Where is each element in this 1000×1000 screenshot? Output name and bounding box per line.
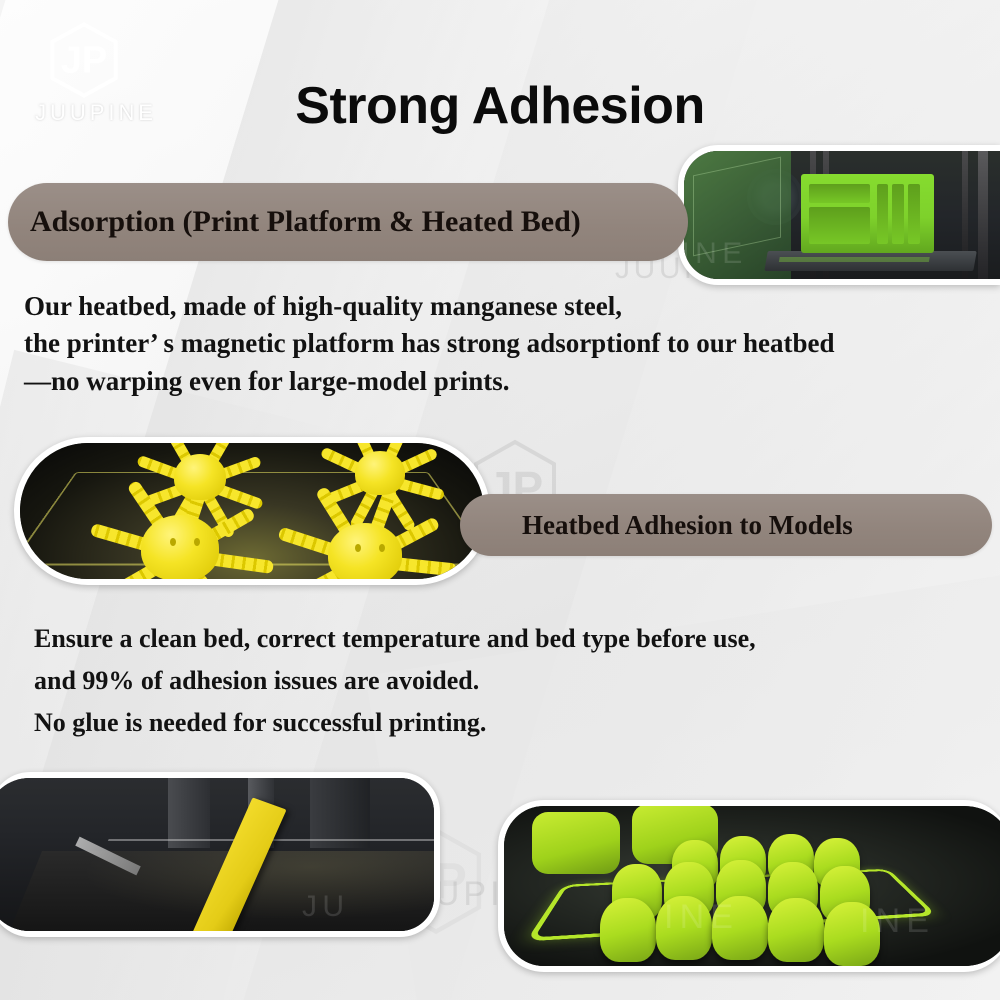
banner-adsorption: Adsorption (Print Platform & Heated Bed)	[8, 183, 688, 261]
paragraph-adsorption: Our heatbed, made of high-quality mangan…	[24, 288, 984, 400]
mini-print	[712, 896, 768, 960]
mini-print	[656, 896, 712, 960]
photo-green-tray-on-printer-bed: PINE	[678, 145, 1000, 285]
photo-lime-mini-prints: INE INE	[498, 800, 1000, 972]
page-title: Strong Adhesion	[0, 76, 1000, 136]
paragraph-line: —no warping even for large-model prints.	[24, 363, 984, 400]
photo-yellow-strip-on-bed: JU	[0, 772, 440, 937]
paragraph-line: the printer’ s magnetic platform has str…	[24, 325, 984, 362]
paragraph-heatbed: Ensure a clean bed, correct temperature …	[34, 618, 984, 744]
mini-print	[768, 898, 824, 962]
paragraph-line: and 99% of adhesion issues are avoided.	[34, 660, 984, 702]
paragraph-line: Ensure a clean bed, correct temperature …	[34, 618, 984, 660]
paragraph-line: Our heatbed, made of high-quality mangan…	[24, 288, 984, 325]
banner-heatbed-adhesion: Heatbed Adhesion to Models	[460, 494, 992, 556]
paragraph-line: No glue is needed for successful printin…	[34, 702, 984, 744]
mini-print	[824, 902, 880, 966]
mini-print	[600, 898, 656, 962]
photo-yellow-octopus-prints	[14, 437, 490, 585]
poster-root: JP JP JP JUUPINE JUUPINE INE JP JUUPINE …	[0, 0, 1000, 1000]
